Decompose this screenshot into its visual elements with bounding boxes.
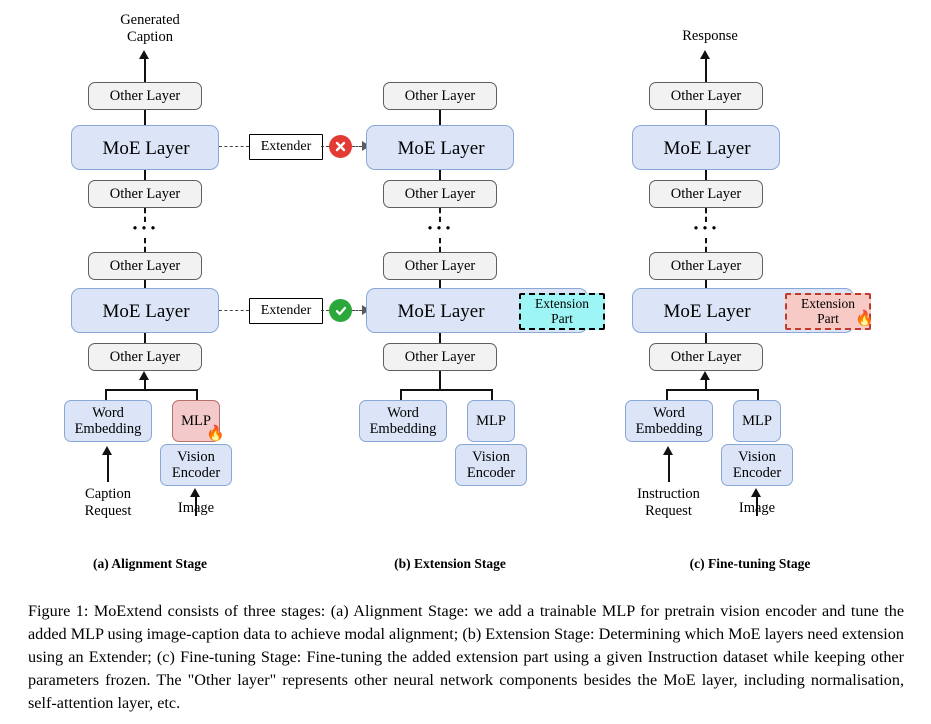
connector-ellipsis-lower [705,238,707,252]
connector-top-moe [144,110,146,125]
input-label-caption-request: Caption Request [62,486,154,520]
other-layer-top: Other Layer [88,82,202,110]
vision-encoder-box: Vision Encoder [721,444,793,486]
ellipsis-dots: ··· [690,218,722,239]
word-embedding-box: Word Embedding [64,400,152,442]
column-finetuning-stage: Response Other Layer MoE Layer Other Lay… [600,0,900,580]
other-layer-bottom: Other Layer [88,343,202,371]
arrow-head-output [139,50,149,59]
stage-label-b: (b) Extension Stage [300,556,600,572]
ellipsis-dots: ··· [424,218,456,239]
moe-layer-upper: MoE Layer [632,125,780,170]
moe-layer-lower: MoE Layer [71,288,219,333]
word-embedding-box: Word Embedding [625,400,713,442]
connector-other-moe-lower [705,280,707,288]
arrow-head-inputs-merge [139,371,149,380]
moe-layer-lower: MoE Layer Extension Part 🔥 [632,288,854,333]
moe-layer-lower: MoE Layer Extension Part [366,288,588,333]
connector-moe-other-mid [144,170,146,180]
moe-layer-lower-label: MoE Layer [72,301,220,322]
column-extension-stage: Other Layer MoE Layer Other Layer ··· Ot… [300,0,600,580]
connector-moe-other-mid [705,170,707,180]
moe-layer-lower-label: MoE Layer [367,301,515,322]
extender-dash-left-lower [219,310,249,311]
arrow-head-image [751,488,761,497]
input-merge-bar [666,389,758,391]
input-merge-bar [400,389,492,391]
arrow-shaft-output [144,56,146,82]
arrow-head-inputs-merge [700,371,710,380]
other-layer-top: Other Layer [649,82,763,110]
arrow-shaft-inputs-merge [439,371,441,390]
other-layer-mid-lower: Other Layer [88,252,202,280]
figure-diagram: Generated Caption Other Layer MoE Layer … [0,0,931,724]
connector-ellipsis-lower [144,238,146,252]
other-layer-mid-lower: Other Layer [649,252,763,280]
flame-icon-extension-part: 🔥 [855,312,874,327]
connector-moe-other-bottom [705,333,707,343]
extender-dash-left-upper [219,146,249,147]
connector-top-moe [705,110,707,125]
other-layer-mid-upper: Other Layer [383,180,497,208]
vision-encoder-box: Vision Encoder [455,444,527,486]
arrow-shaft-output [705,56,707,82]
input-merge-bar [105,389,197,391]
stage-label-c: (c) Fine-tuning Stage [600,556,900,572]
arrow-head-output [700,50,710,59]
output-label-generated-caption: Generated Caption [95,12,205,46]
connector-moe-other-bottom [439,333,441,343]
moe-layer-upper: MoE Layer [366,125,514,170]
extension-part-box: Extension Part [519,293,605,330]
mlp-box: MLP [467,400,515,442]
connector-other-moe-lower [439,280,441,288]
connector-moe-other-mid [439,170,441,180]
moe-layer-lower-label: MoE Layer [633,301,781,322]
moe-layer-upper: MoE Layer [71,125,219,170]
vision-encoder-box: Vision Encoder [160,444,232,486]
other-layer-bottom: Other Layer [383,343,497,371]
moe-layer-upper-label: MoE Layer [72,138,220,159]
output-label-response: Response [655,28,765,45]
arrow-shaft-caption-request [107,452,109,482]
arrow-head-image [190,488,200,497]
input-label-image: Image [160,500,232,517]
connector-top-moe [439,110,441,125]
other-layer-bottom: Other Layer [649,343,763,371]
input-label-image: Image [721,500,793,517]
input-label-instruction-request: Instruction Request [620,486,717,520]
moe-layer-upper-label: MoE Layer [633,138,781,159]
other-layer-mid-upper: Other Layer [88,180,202,208]
arrow-head-caption-request [102,446,112,455]
mlp-box: MLP [733,400,781,442]
ellipsis-dots: ··· [129,218,161,239]
arrow-head-instruction-request [663,446,673,455]
other-layer-top: Other Layer [383,82,497,110]
connector-moe-other-bottom [144,333,146,343]
flame-icon-mlp: 🔥 [206,427,225,442]
word-embedding-box: Word Embedding [359,400,447,442]
other-layer-mid-lower: Other Layer [383,252,497,280]
moe-layer-upper-label: MoE Layer [367,138,515,159]
figure-caption: Figure 1: MoExtend consists of three sta… [28,600,904,715]
other-layer-mid-upper: Other Layer [649,180,763,208]
arrow-shaft-instruction-request [668,452,670,482]
connector-other-moe-lower [144,280,146,288]
connector-ellipsis-lower [439,238,441,252]
column-alignment-stage: Generated Caption Other Layer MoE Layer … [0,0,300,580]
stage-label-a: (a) Alignment Stage [0,556,300,572]
